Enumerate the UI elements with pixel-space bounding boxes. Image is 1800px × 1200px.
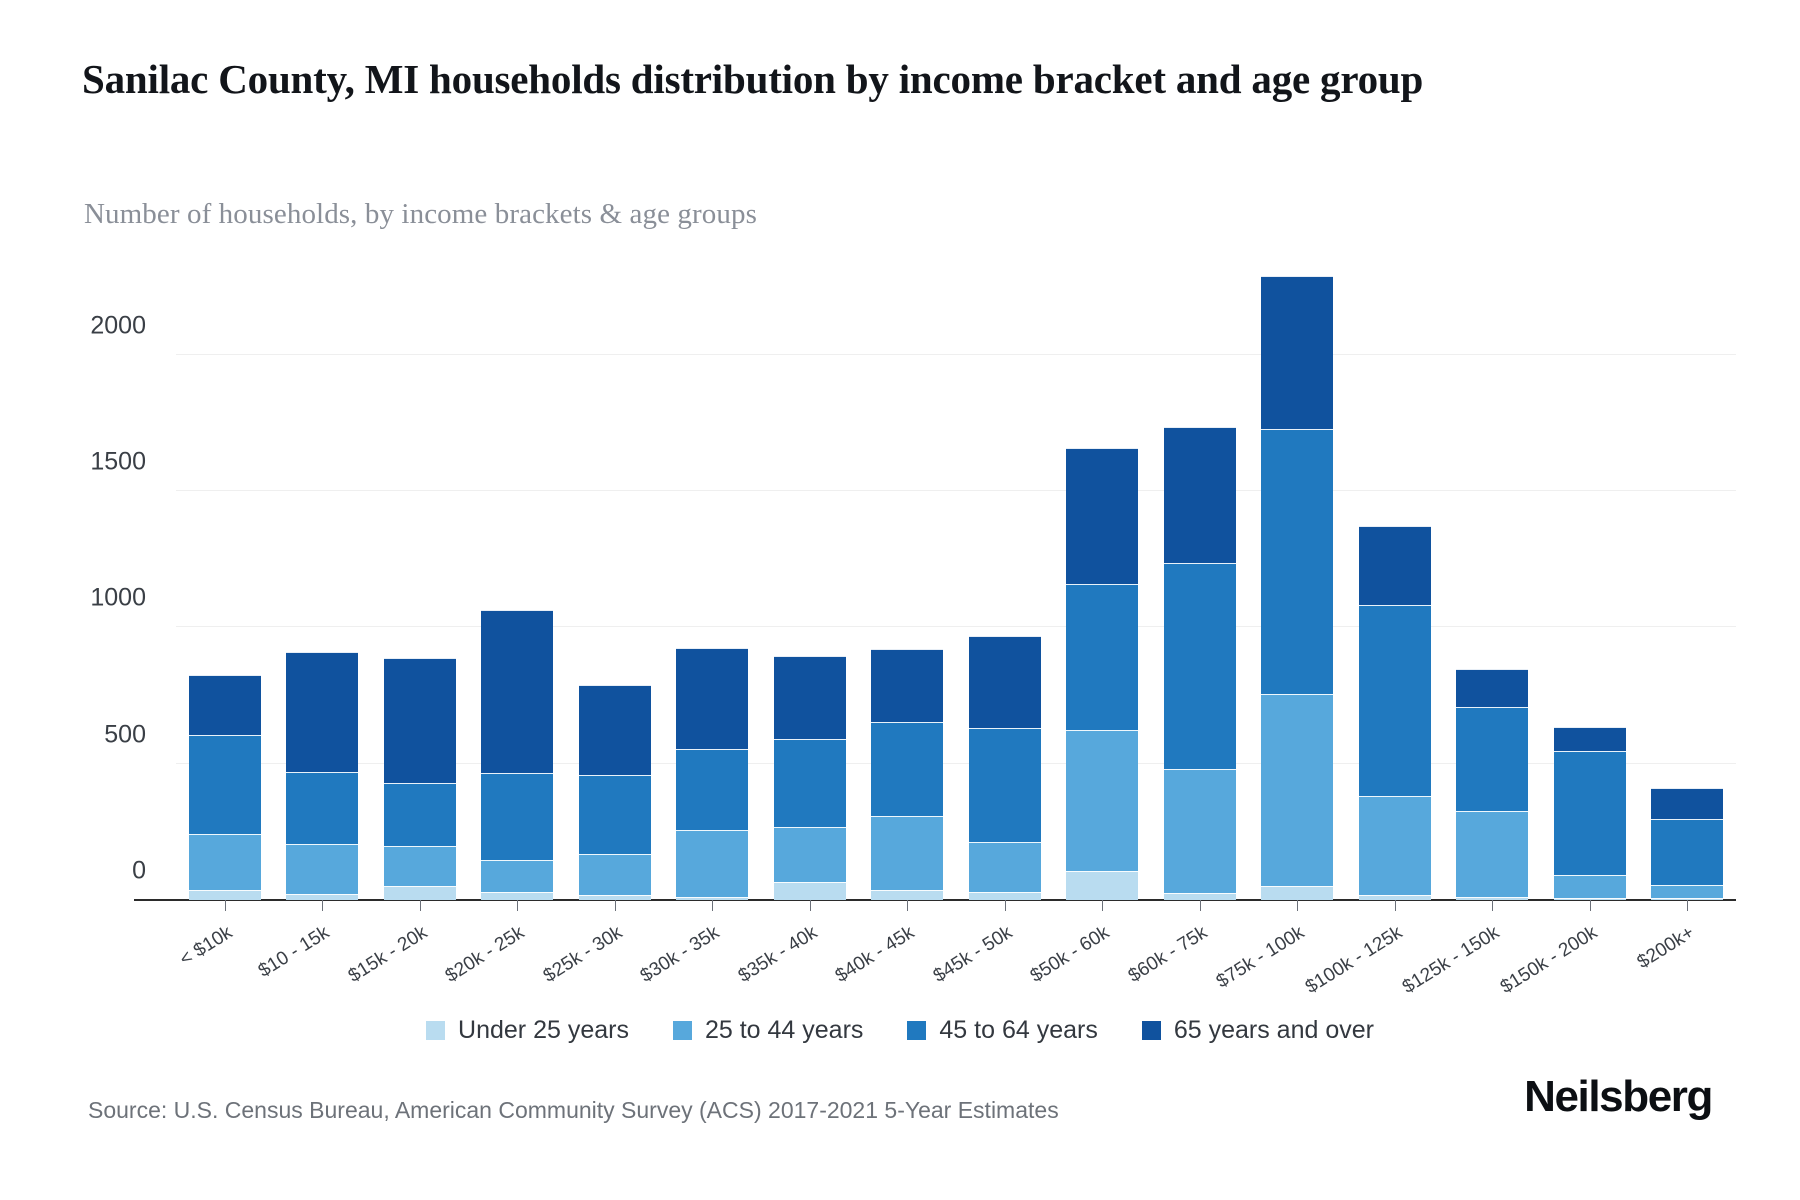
x-axis-tick — [712, 900, 713, 911]
bar-segment[interactable] — [481, 892, 553, 900]
bar-slot: $15k - 20k — [371, 300, 469, 900]
bar-segment[interactable] — [774, 739, 846, 827]
stacked-bar[interactable] — [1554, 727, 1626, 900]
x-axis-tick — [1297, 900, 1298, 911]
bar-slot: $40k - 45k — [859, 300, 957, 900]
x-axis-tick-label: $15k - 20k — [344, 922, 431, 988]
legend-swatch-icon — [907, 1021, 926, 1040]
legend-item[interactable]: Under 25 years — [426, 1016, 629, 1045]
bar-segment[interactable] — [1456, 811, 1528, 897]
x-axis-tick-label: $60k - 75k — [1124, 922, 1211, 988]
legend-label: Under 25 years — [458, 1016, 629, 1045]
x-axis-tick — [225, 900, 226, 911]
bar-segment[interactable] — [969, 842, 1041, 892]
x-axis-tick — [1590, 900, 1591, 911]
bar-segment[interactable] — [1554, 727, 1626, 752]
x-axis-tick — [1687, 900, 1688, 911]
bar-slot: $75k - 100k — [1249, 300, 1347, 900]
legend-label: 45 to 64 years — [939, 1016, 1097, 1045]
legend-swatch-icon — [673, 1021, 692, 1040]
legend-swatch-icon — [1142, 1021, 1161, 1040]
stacked-bar[interactable] — [481, 610, 553, 900]
x-axis-tick — [1102, 900, 1103, 911]
bar-segment[interactable] — [1066, 730, 1138, 872]
stacked-bar[interactable] — [1359, 526, 1431, 900]
bar-segment[interactable] — [481, 610, 553, 772]
stacked-bar[interactable] — [384, 658, 456, 900]
x-axis-tick — [810, 900, 811, 911]
bar-segment[interactable] — [676, 830, 748, 896]
bar-segment[interactable] — [384, 658, 456, 783]
bar-segment[interactable] — [189, 834, 261, 890]
legend-item[interactable]: 65 years and over — [1142, 1016, 1374, 1045]
bar-slot: $60k - 75k — [1151, 300, 1249, 900]
bar-segment[interactable] — [774, 827, 846, 883]
stacked-bar[interactable] — [286, 652, 358, 900]
plot-area: 0500100015002000 < $10k$10 - 15k$15k - 2… — [176, 300, 1736, 900]
bar-segment[interactable] — [969, 636, 1041, 727]
x-axis-tick — [615, 900, 616, 911]
bar-segment[interactable] — [1066, 871, 1138, 900]
bar-segment[interactable] — [969, 892, 1041, 900]
bar-segment[interactable] — [1359, 526, 1431, 605]
bar-slot: $10 - 15k — [274, 300, 372, 900]
x-axis-tick-label: $150k - 200k — [1497, 922, 1602, 999]
bar-segment[interactable] — [286, 652, 358, 772]
stacked-bar[interactable] — [676, 648, 748, 900]
bar-segment[interactable] — [384, 783, 456, 846]
bar-slot: $200k+ — [1639, 300, 1737, 900]
bar-segment[interactable] — [1261, 276, 1333, 429]
bar-segment[interactable] — [384, 886, 456, 900]
y-axis-tick-label: 2000 — [90, 311, 146, 340]
legend-label: 65 years and over — [1174, 1016, 1374, 1045]
bar-segment[interactable] — [579, 685, 651, 776]
stacked-bar[interactable] — [579, 685, 651, 900]
stacked-bar[interactable] — [1651, 788, 1723, 900]
bar-slot: $100k - 125k — [1346, 300, 1444, 900]
x-axis-tick — [1395, 900, 1396, 911]
bar-segment[interactable] — [1554, 751, 1626, 875]
chart-page: Sanilac County, MI households distributi… — [0, 0, 1800, 1200]
bar-slot: $50k - 60k — [1054, 300, 1152, 900]
bar-segment[interactable] — [1456, 669, 1528, 707]
bar-segment[interactable] — [1066, 584, 1138, 729]
bar-segment[interactable] — [1261, 429, 1333, 694]
x-axis-tick-label: $20k - 25k — [442, 922, 529, 988]
bar-segment[interactable] — [774, 656, 846, 739]
x-axis-tick-label: $125k - 150k — [1399, 922, 1504, 999]
bar-slot: < $10k — [176, 300, 274, 900]
bar-group: < $10k$10 - 15k$15k - 20k$20k - 25k$25k … — [176, 300, 1736, 900]
bar-segment[interactable] — [481, 860, 553, 892]
bar-segment[interactable] — [774, 882, 846, 900]
x-axis-tick-label: $75k - 100k — [1213, 922, 1309, 993]
stacked-bar[interactable] — [1066, 448, 1138, 900]
x-axis-tick-label: $40k - 45k — [832, 922, 919, 988]
source-note: Source: U.S. Census Bureau, American Com… — [88, 1097, 1059, 1124]
stacked-bar[interactable] — [189, 675, 261, 900]
bar-segment[interactable] — [1359, 796, 1431, 894]
x-axis-tick — [1200, 900, 1201, 911]
bar-segment[interactable] — [871, 722, 943, 816]
bar-segment[interactable] — [1261, 886, 1333, 900]
x-axis-tick — [420, 900, 421, 911]
stacked-bar[interactable] — [969, 636, 1041, 900]
bar-segment[interactable] — [1164, 769, 1236, 893]
bar-segment[interactable] — [871, 890, 943, 900]
bar-slot: $25k - 30k — [566, 300, 664, 900]
brand-logo: Neilsberg — [1524, 1072, 1712, 1122]
bar-segment[interactable] — [286, 772, 358, 845]
bar-slot: $150k - 200k — [1541, 300, 1639, 900]
chart-legend: Under 25 years25 to 44 years45 to 64 yea… — [0, 1016, 1800, 1045]
legend-swatch-icon — [426, 1021, 445, 1040]
x-axis-tick-label: $50k - 60k — [1027, 922, 1114, 988]
bar-segment[interactable] — [871, 649, 943, 722]
bar-segment[interactable] — [384, 846, 456, 886]
bar-segment[interactable] — [189, 890, 261, 900]
bar-segment[interactable] — [1554, 875, 1626, 898]
bar-segment[interactable] — [579, 775, 651, 854]
legend-label: 25 to 44 years — [705, 1016, 863, 1045]
legend-item[interactable]: 45 to 64 years — [907, 1016, 1097, 1045]
bar-segment[interactable] — [189, 735, 261, 834]
bar-segment[interactable] — [1066, 448, 1138, 584]
x-axis-tick — [322, 900, 323, 911]
x-axis-tick-label: < $10k — [176, 922, 236, 971]
stacked-bar[interactable] — [774, 656, 846, 900]
x-axis-tick-label: $30k - 35k — [637, 922, 724, 988]
bar-slot: $30k - 35k — [664, 300, 762, 900]
y-axis-tick-label: 1500 — [90, 447, 146, 476]
legend-item[interactable]: 25 to 44 years — [673, 1016, 863, 1045]
x-axis-tick — [907, 900, 908, 911]
bar-segment[interactable] — [1651, 819, 1723, 884]
bar-segment[interactable] — [871, 816, 943, 890]
y-axis-tick-label: 500 — [104, 720, 146, 749]
stacked-bar[interactable] — [1261, 276, 1333, 900]
x-axis-tick — [1492, 900, 1493, 911]
x-axis-tick-label: $200k+ — [1634, 922, 1699, 974]
bar-slot: $20k - 25k — [469, 300, 567, 900]
bar-segment[interactable] — [1359, 605, 1431, 796]
bar-segment[interactable] — [1651, 788, 1723, 819]
page-title: Sanilac County, MI households distributi… — [82, 54, 1642, 104]
x-axis-tick-label: $100k - 125k — [1302, 922, 1407, 999]
stacked-bar[interactable] — [1164, 427, 1236, 900]
bar-segment[interactable] — [676, 749, 748, 830]
bar-segment[interactable] — [1261, 694, 1333, 886]
bar-slot: $45k - 50k — [956, 300, 1054, 900]
bar-segment[interactable] — [676, 648, 748, 749]
x-axis-tick-label: $10 - 15k — [255, 922, 334, 983]
bar-segment[interactable] — [286, 844, 358, 894]
stacked-bar[interactable] — [1456, 669, 1528, 900]
bar-segment[interactable] — [1456, 707, 1528, 811]
bar-segment[interactable] — [1164, 563, 1236, 769]
bar-segment[interactable] — [189, 675, 261, 735]
y-axis-tick-label: 1000 — [90, 584, 146, 613]
bar-segment[interactable] — [1164, 427, 1236, 563]
bar-slot: $35k - 40k — [761, 300, 859, 900]
x-axis-tick — [517, 900, 518, 911]
bar-segment[interactable] — [579, 854, 651, 895]
x-axis-tick-label: $35k - 40k — [734, 922, 821, 988]
page-subtitle: Number of households, by income brackets… — [84, 198, 1584, 231]
x-axis-tick-label: $25k - 30k — [539, 922, 626, 988]
stacked-bar[interactable] — [871, 649, 943, 900]
bar-slot: $125k - 150k — [1444, 300, 1542, 900]
x-axis-tick — [1005, 900, 1006, 911]
bar-segment[interactable] — [481, 773, 553, 860]
bar-segment[interactable] — [969, 728, 1041, 842]
bar-segment[interactable] — [1651, 885, 1723, 898]
x-axis-tick-label: $45k - 50k — [929, 922, 1016, 988]
y-axis-tick-label: 0 — [132, 857, 146, 886]
